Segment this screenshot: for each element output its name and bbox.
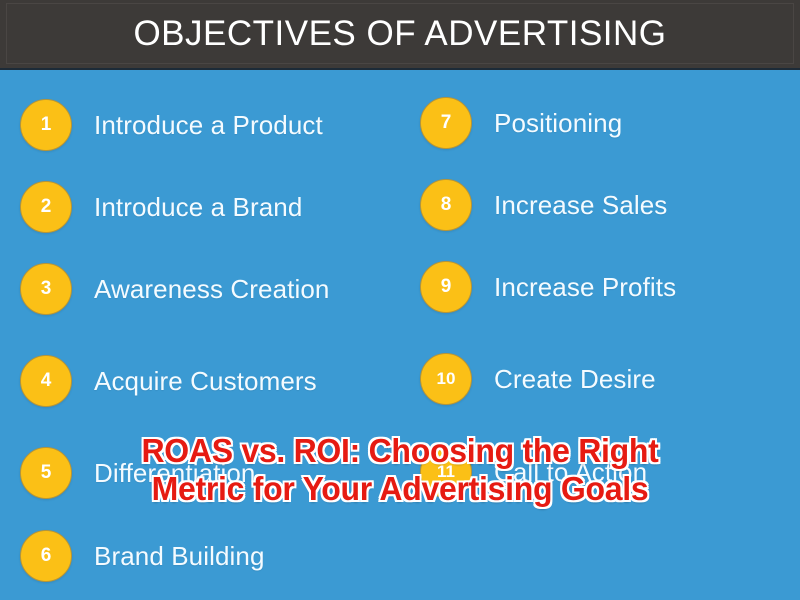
objective-number-badge: 10: [420, 353, 472, 405]
objective-label: Call to Action: [494, 457, 647, 488]
objective-label: Brand Building: [94, 541, 265, 572]
objective-row[interactable]: 4Acquire Customers: [20, 354, 317, 408]
objective-label: Introduce a Product: [94, 110, 323, 141]
objective-row[interactable]: 9Increase Profits: [420, 260, 676, 314]
slide-canvas: OBJECTIVES OF ADVERTISING 1Introduce a P…: [0, 0, 800, 600]
objective-number-badge: 9: [420, 261, 472, 313]
objective-number-badge: 11: [420, 446, 472, 498]
objective-label: Differentiation: [94, 458, 255, 489]
objective-number-badge: 5: [20, 447, 72, 499]
objective-number-badge: 1: [20, 99, 72, 151]
objective-row[interactable]: 5Differentiation: [20, 446, 255, 500]
objective-number-badge: 7: [420, 97, 472, 149]
objective-label: Positioning: [494, 108, 622, 139]
objective-row[interactable]: 6Brand Building: [20, 529, 265, 583]
objective-number-badge: 3: [20, 263, 72, 315]
objectives-column-right: 7Positioning8Increase Sales9Increase Pro…: [400, 70, 800, 600]
objective-number-badge: 2: [20, 181, 72, 233]
objective-row[interactable]: 10Create Desire: [420, 352, 656, 406]
objectives-column-left: 1Introduce a Product2Introduce a Brand3A…: [0, 70, 400, 600]
objective-label: Acquire Customers: [94, 366, 317, 397]
objective-row[interactable]: 7Positioning: [420, 96, 622, 150]
objective-number-badge: 6: [20, 530, 72, 582]
header-bar: OBJECTIVES OF ADVERTISING: [0, 0, 800, 70]
objective-number-badge: 4: [20, 355, 72, 407]
objective-label: Create Desire: [494, 364, 656, 395]
objective-row[interactable]: 1Introduce a Product: [20, 98, 323, 152]
objective-row[interactable]: 8Increase Sales: [420, 178, 667, 232]
objective-row[interactable]: 11Call to Action: [420, 445, 647, 499]
objective-number-badge: 8: [420, 179, 472, 231]
objective-label: Introduce a Brand: [94, 192, 302, 223]
objective-label: Increase Profits: [494, 272, 676, 303]
page-title: OBJECTIVES OF ADVERTISING: [0, 0, 800, 68]
objective-label: Increase Sales: [494, 190, 667, 221]
objective-row[interactable]: 2Introduce a Brand: [20, 180, 302, 234]
objective-label: Awareness Creation: [94, 274, 329, 305]
objective-row[interactable]: 3Awareness Creation: [20, 262, 329, 316]
